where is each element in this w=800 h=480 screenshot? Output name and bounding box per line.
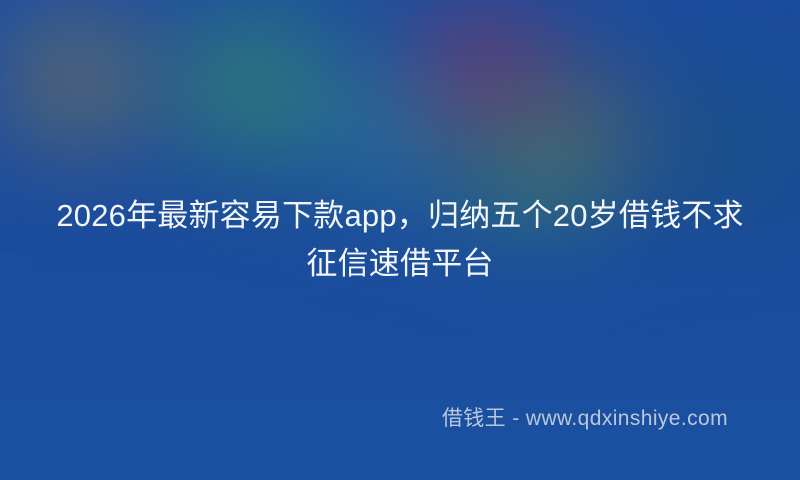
banner-headline: 2026年最新容易下款app，归纳五个20岁借钱不求征信速借平台 — [50, 192, 750, 288]
article-banner: 2026年最新容易下款app，归纳五个20岁借钱不求征信速借平台 借钱王 - w… — [0, 0, 800, 480]
site-watermark: 借钱王 - www.qdxinshiye.com — [442, 405, 728, 433]
